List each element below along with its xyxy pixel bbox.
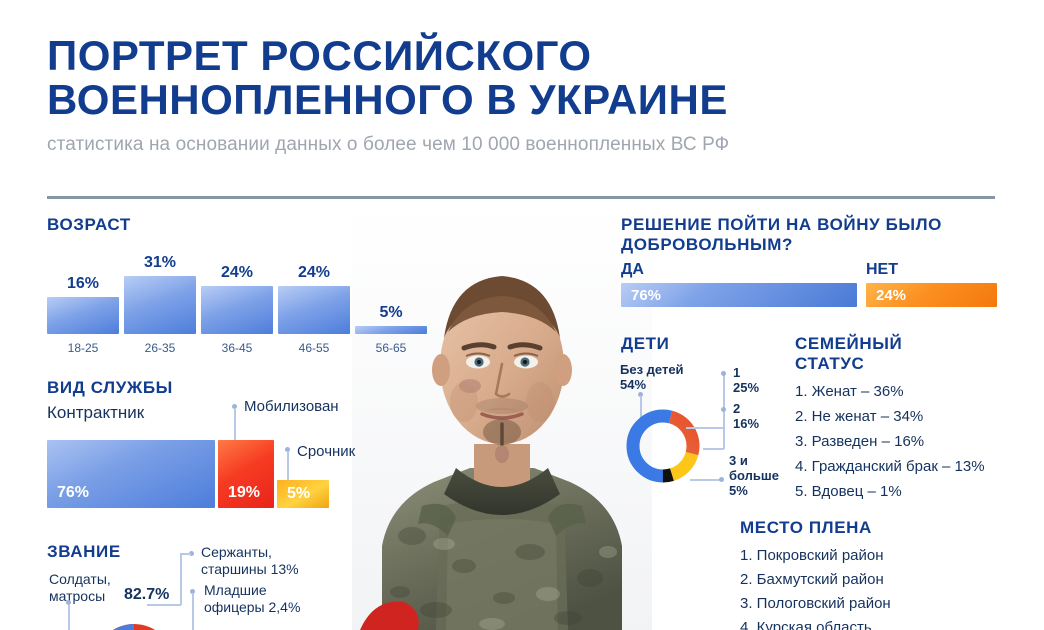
rank-label-sergeants-line2: старшины 13% — [201, 561, 299, 578]
age-label-36-45: 36-45 — [201, 341, 273, 355]
family-status-item-1: 1. Женат – 36% — [795, 383, 904, 401]
children-donut-chart — [621, 404, 705, 488]
rank-label-officers-line1: Младшие — [204, 582, 267, 599]
children-label-three-line3: 5% — [729, 483, 748, 498]
section-heading-capture: МЕСТО ПЛЕНА — [740, 518, 872, 538]
voluntary-no-bar: 24% — [866, 283, 997, 307]
age-bar-26-35 — [124, 276, 196, 334]
callout-label-mobilized: Мобилизован — [244, 398, 339, 415]
age-bar-group-18-25: 16% 18-25 — [47, 297, 119, 334]
rank-pie-svg — [82, 612, 186, 630]
voluntary-yes-value: 76% — [621, 287, 661, 304]
age-label-18-25: 18-25 — [47, 341, 119, 355]
callout-line-children-three-h — [690, 479, 722, 481]
callout-line-officers — [192, 593, 194, 630]
rank-label-sergeants-line1: Сержанты, — [201, 544, 272, 561]
children-label-none-line2: 54% — [620, 377, 646, 392]
voluntary-yes-label: ДА — [621, 261, 644, 279]
soldier-photo — [352, 206, 652, 630]
children-donut-svg — [621, 404, 705, 488]
callout-line-children-two-h — [703, 448, 724, 450]
capture-place-item-2: 2. Бахмутский район — [740, 571, 884, 589]
section-heading-family-line1: СЕМЕЙНЫЙ — [795, 334, 902, 354]
callout-line-mobilized — [234, 408, 236, 442]
rank-value-soldiers: 82.7% — [124, 586, 169, 604]
family-status-item-4: 4. Гражданский брак – 13% — [795, 458, 985, 476]
callout-line-children-two-v — [723, 410, 725, 449]
rank-label-soldiers-line2: матросы — [49, 588, 105, 605]
capture-place-item-3: 3. Пологовский район — [740, 595, 891, 613]
callout-line-sergeants-foot — [147, 604, 181, 606]
capture-place-item-1: 1. Покровский район — [740, 547, 884, 565]
service-value-contract: 76% — [47, 484, 89, 508]
age-label-46-55: 46-55 — [278, 341, 350, 355]
age-bar-group-26-35: 31% 26-35 — [124, 276, 196, 334]
service-value-mobilized: 19% — [218, 484, 260, 508]
rank-pie-chart — [82, 612, 186, 630]
voluntary-no-label: НЕТ — [866, 261, 898, 279]
voluntary-no-value: 24% — [866, 287, 906, 304]
section-heading-voluntary-line2: ДОБРОВОЛЬНЫМ? — [621, 235, 793, 255]
service-segment-mobilized: 19% — [218, 440, 274, 508]
callout-dot-children-one — [721, 371, 726, 376]
children-label-two-line2: 16% — [733, 416, 759, 431]
family-status-item-2: 2. Не женат – 34% — [795, 408, 923, 426]
section-heading-voluntary-line1: РЕШЕНИЕ ПОЙТИ НА ВОЙНУ БЫЛО — [621, 215, 942, 235]
callout-line-children-one-h — [686, 427, 724, 429]
age-bar-group-46-55: 24% 46-55 — [278, 286, 350, 334]
age-bar-group-36-45: 24% 36-45 — [201, 286, 273, 334]
infographic-page: ПОРТРЕТ РОССИЙСКОГО ВОЕННОПЛЕННОГО В УКР… — [0, 0, 1044, 630]
age-label-26-35: 26-35 — [124, 341, 196, 355]
service-label-contract: Контрактник — [47, 403, 144, 423]
children-label-two-line1: 2 — [733, 401, 740, 416]
voluntary-yes-bar: 76% — [621, 283, 857, 307]
callout-line-sergeants-h — [180, 553, 191, 555]
family-status-item-5: 5. Вдовец – 1% — [795, 483, 902, 501]
age-bar-18-25 — [47, 297, 119, 334]
callout-dot-children-two — [721, 407, 726, 412]
children-label-one-line2: 25% — [733, 380, 759, 395]
section-heading-service: ВИД СЛУЖБЫ — [47, 378, 173, 398]
age-value-36-45: 24% — [201, 264, 273, 282]
children-label-none-line1: Без детей — [620, 362, 684, 377]
age-bar-group-56-65: 5% 56-65 — [355, 326, 427, 334]
header-divider — [47, 196, 995, 199]
service-segment-conscript: 5% — [277, 480, 329, 508]
page-title-line-2: ВОЕННОПЛЕННОГО В УКРАИНЕ — [47, 78, 1007, 122]
rank-label-officers-line2: офицеры 2,4% — [204, 599, 300, 616]
page-subtitle: статистика на основании данных о более ч… — [47, 134, 1007, 156]
callout-dot-children-three — [719, 477, 724, 482]
callout-line-soldiers — [68, 604, 70, 630]
age-bar-chart: 16% 18-25 31% 26-35 24% 36-45 24% 46-55 … — [47, 274, 437, 334]
age-value-18-25: 16% — [47, 275, 119, 293]
age-value-26-35: 31% — [124, 254, 196, 272]
age-value-56-65: 5% — [355, 304, 427, 322]
children-label-one-line1: 1 — [733, 365, 740, 380]
service-value-conscript: 5% — [277, 485, 310, 508]
section-heading-children: ДЕТИ — [621, 334, 669, 354]
age-value-46-55: 24% — [278, 264, 350, 282]
service-segment-contract: 76% — [47, 440, 215, 508]
section-heading-age: ВОЗРАСТ — [47, 215, 131, 235]
section-heading-rank: ЗВАНИЕ — [47, 542, 121, 562]
family-status-item-3: 3. Разведен – 16% — [795, 433, 924, 451]
age-bar-46-55 — [278, 286, 350, 334]
age-bar-56-65 — [355, 326, 427, 334]
rank-label-soldiers-line1: Солдаты, — [49, 571, 111, 588]
age-label-56-65: 56-65 — [355, 341, 427, 355]
page-header: ПОРТРЕТ РОССИЙСКОГО ВОЕННОПЛЕННОГО В УКР… — [47, 34, 1007, 156]
callout-line-sergeants-v — [180, 553, 182, 605]
service-stacked-bar: 76% 19% 5% — [47, 440, 329, 508]
soldier-photo-illustration — [352, 206, 652, 630]
capture-place-item-4: 4. Курская область — [740, 619, 872, 630]
children-label-three-line1: 3 и — [729, 453, 748, 468]
section-heading-family-line2: СТАТУС — [795, 354, 864, 374]
children-label-three-line2: больше — [729, 468, 779, 483]
page-title-line-1: ПОРТРЕТ РОССИЙСКОГО — [47, 34, 1007, 78]
age-bar-36-45 — [201, 286, 273, 334]
